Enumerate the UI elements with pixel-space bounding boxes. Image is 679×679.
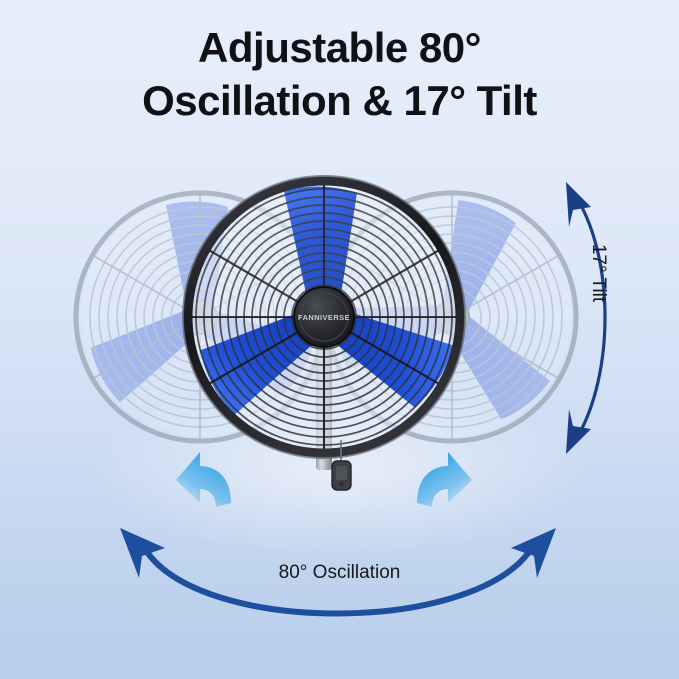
- tilt-label: 17° Tilt: [587, 213, 609, 333]
- oscillation-label: 80° Oscillation: [0, 562, 679, 584]
- brand-logo-text: FANNIVERSE: [298, 313, 350, 322]
- product-feature-image: Adjustable 80° Oscillation & 17° Tilt: [0, 0, 679, 679]
- fan-hub: FANNIVERSE: [294, 287, 354, 347]
